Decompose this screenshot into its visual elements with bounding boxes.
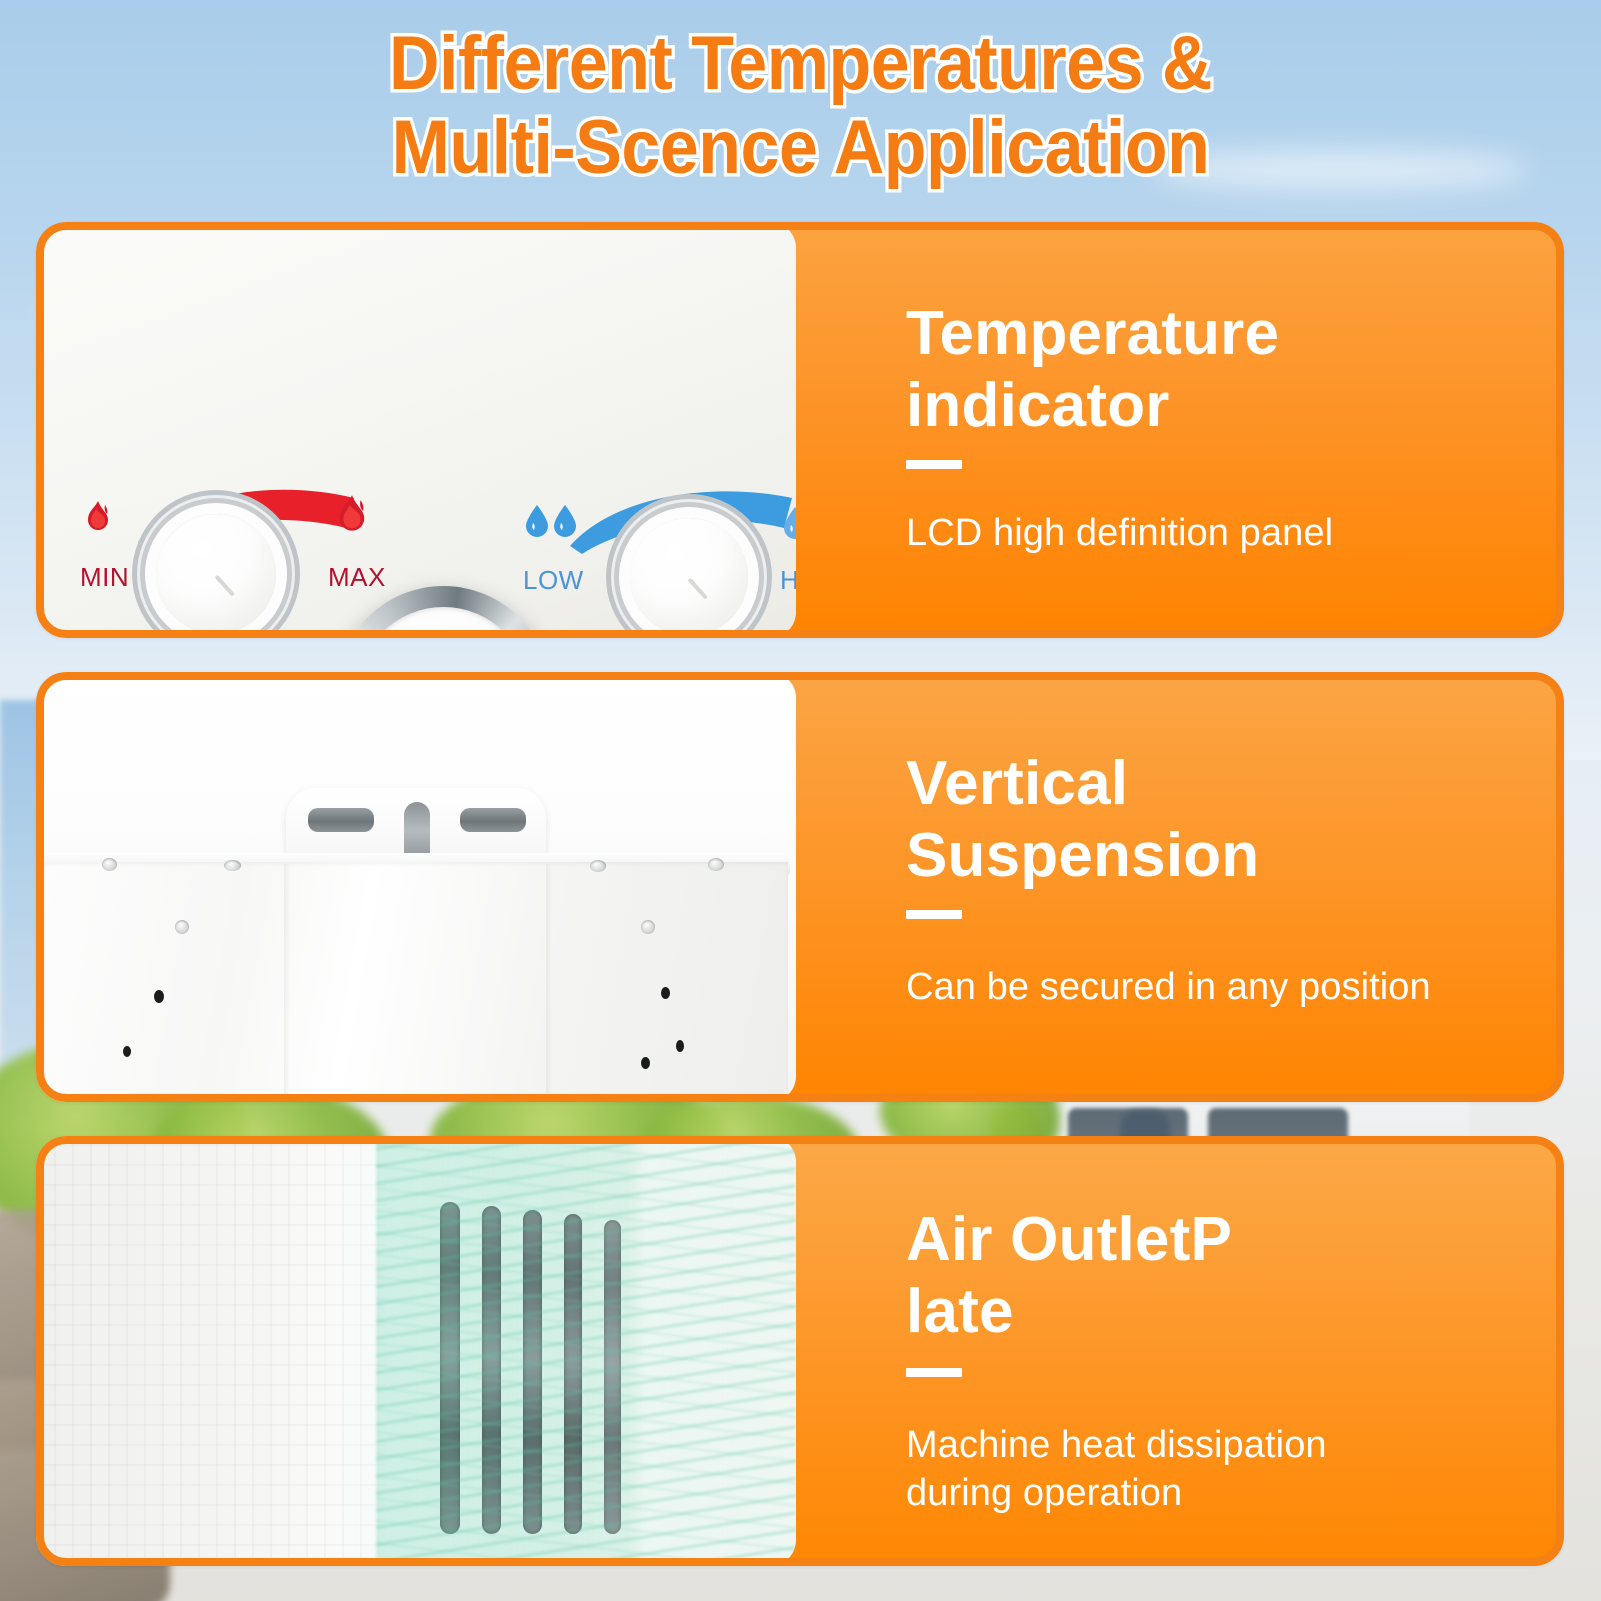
lcd-temperature-display: F [336,586,551,638]
mount-slot [460,808,526,832]
feature-copy-block: Air OutletP late Machine heat dissipatio… [784,1136,1564,1566]
feature-subtitle: LCD high definition panel [906,509,1540,557]
product-photo-mounting-bracket [36,672,796,1102]
feature-copy-block: Temperature indicator LCD high definitio… [784,222,1564,638]
panel-ridge [546,864,552,1102]
screw-hole [641,920,655,934]
feature-title: Temperature indicator [906,298,1540,442]
water-drop-icon [524,504,550,543]
screw-hole [175,920,189,934]
screw-hole [590,860,606,872]
product-photo-air-outlet [36,1136,796,1566]
vent-hole [123,1046,131,1057]
flame-icon [82,500,114,541]
feature-panel-temperature-indicator: Temperature indicator LCD high definitio… [36,222,1564,638]
feature-title: Vertical Suspension [906,748,1540,892]
panel-ridge [284,864,290,1102]
feature-subtitle: Machine heat dissipation during operatio… [906,1421,1540,1517]
airflow-streaks [376,1136,796,1566]
gas-max-label: MAX [328,562,386,593]
feature-title: Air OutletP late [906,1204,1540,1348]
product-photo-control-panel: MIN MAX GAS [36,222,796,638]
water-drop-icon [552,504,578,543]
vent-hole [661,987,670,999]
vent-hole [676,1040,684,1052]
water-control-knob[interactable] [630,518,748,636]
feature-subtitle: Can be secured in any position [906,963,1540,1011]
mount-slot [308,808,374,832]
title-divider [906,1368,962,1377]
flame-icon [332,494,372,543]
cloud [1150,150,1530,190]
bracket-body [44,862,788,1102]
screw-hole [102,858,117,871]
title-divider [906,910,962,919]
screw-hole [708,858,724,871]
feature-panel-vertical-suspension: Vertical Suspension Can be secured in an… [36,672,1564,1102]
vent-hole [641,1057,650,1069]
water-high-label: HIGH [780,565,796,596]
feature-panel-air-outlet-plate: Air OutletP late Machine heat dissipatio… [36,1136,1564,1566]
water-low-label: LOW [523,565,584,596]
housing-texture [36,1136,386,1566]
vent-hole [154,990,164,1003]
screw-hole [224,860,241,871]
feature-copy-block: Vertical Suspension Can be secured in an… [784,672,1564,1102]
title-divider [906,460,962,469]
gas-min-label: MIN [80,562,129,593]
gas-control-knob[interactable] [156,514,276,634]
water-drop-icon [782,506,796,545]
